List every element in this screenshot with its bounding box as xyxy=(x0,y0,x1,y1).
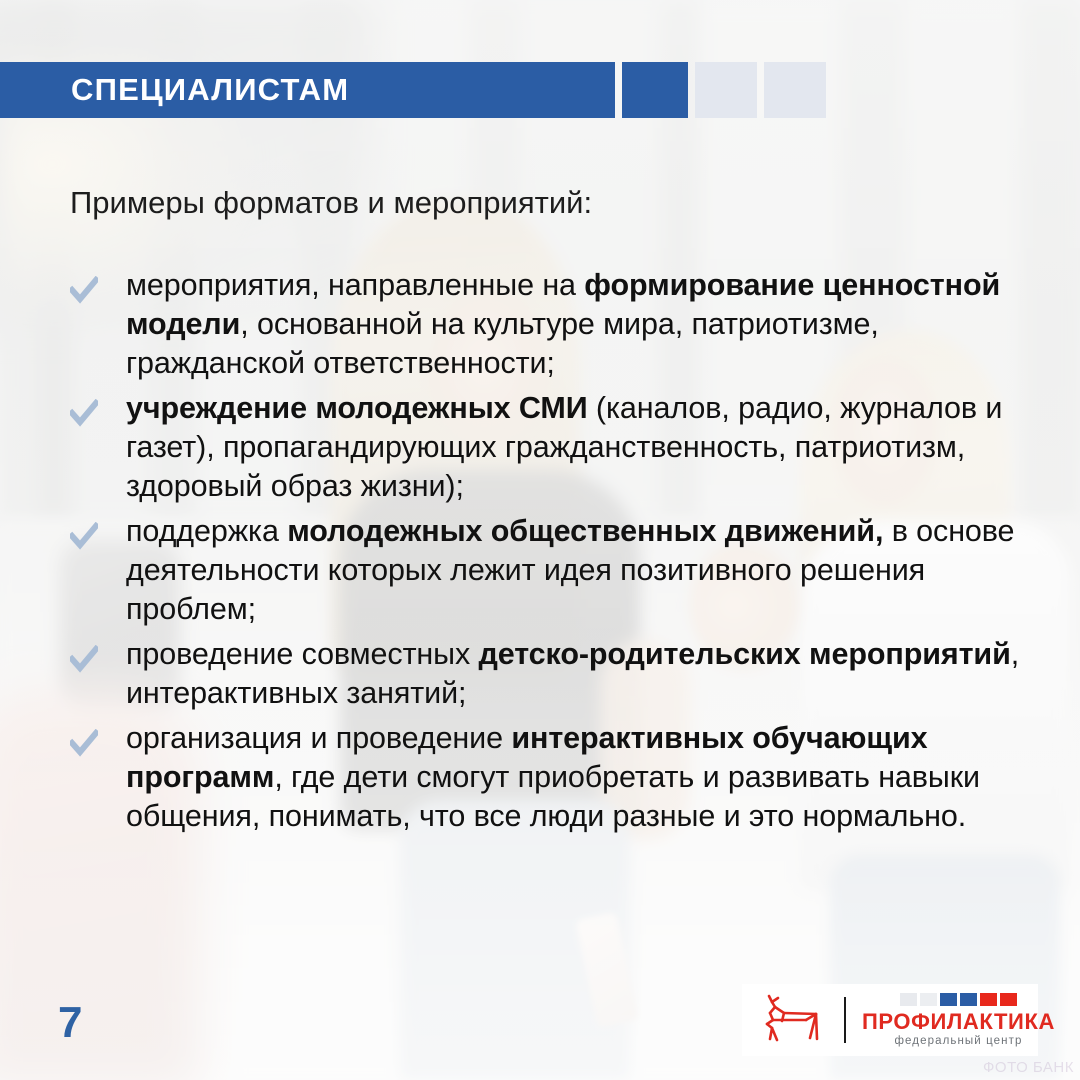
bullet-text-plain: мероприятия, направленные на xyxy=(126,268,584,302)
logo-color-square xyxy=(900,993,917,1006)
bullet-list: мероприятия, направленные на формировани… xyxy=(70,266,1020,842)
page-number: 7 xyxy=(58,998,82,1048)
bullet-text: мероприятия, направленные на формировани… xyxy=(126,266,1020,383)
bullet-item: организация и проведение интерактивных о… xyxy=(70,719,1020,836)
organization-logo: ПРОФИЛАКТИКА федеральный центр xyxy=(742,984,1038,1056)
logo-color-squares xyxy=(900,993,1017,1006)
bullet-text-emphasis: учреждение молодежных СМИ xyxy=(126,391,588,425)
bullet-text-plain: поддержка xyxy=(126,514,287,548)
logo-color-square xyxy=(1000,993,1017,1006)
logo-divider xyxy=(844,997,846,1043)
bullet-text: организация и проведение интерактивных о… xyxy=(126,719,1020,836)
bullet-text: поддержка молодежных общественных движен… xyxy=(126,512,1020,629)
logo-subtitle: федеральный центр xyxy=(894,1035,1022,1047)
check-icon xyxy=(70,522,98,552)
bullet-item: мероприятия, направленные на формировани… xyxy=(70,266,1020,383)
content-subtitle: Примеры форматов и мероприятий: xyxy=(70,185,592,221)
check-icon xyxy=(70,399,98,429)
logo-name: ПРОФИЛАКТИКА xyxy=(862,1010,1055,1033)
logo-color-square xyxy=(980,993,997,1006)
bullet-text-emphasis: детско-родительских мероприятий xyxy=(479,637,1011,671)
check-icon xyxy=(70,729,98,759)
check-icon xyxy=(70,276,98,306)
bullet-text-emphasis: молодежных общественных движений, xyxy=(287,514,883,548)
slide: СПЕЦИАЛИСТАМ Примеры форматов и мероприя… xyxy=(0,0,1080,1080)
stock-photo-watermark: ФОТО БАНК xyxy=(983,1059,1074,1076)
bullet-text-plain: проведение совместных xyxy=(126,637,479,671)
logo-color-square xyxy=(920,993,937,1006)
logo-color-square xyxy=(960,993,977,1006)
check-icon xyxy=(70,645,98,675)
slide-content: Примеры форматов и мероприятий: мероприя… xyxy=(0,0,1080,1080)
deer-icon xyxy=(760,993,832,1047)
logo-text-block: ПРОФИЛАКТИКА федеральный центр xyxy=(862,993,1063,1047)
bullet-text: учреждение молодежных СМИ (каналов, ради… xyxy=(126,389,1020,506)
bullet-text-plain: организация и проведение xyxy=(126,721,511,755)
logo-color-square xyxy=(940,993,957,1006)
bullet-item: проведение совместных детско-родительски… xyxy=(70,635,1020,713)
bullet-item: учреждение молодежных СМИ (каналов, ради… xyxy=(70,389,1020,506)
bullet-item: поддержка молодежных общественных движен… xyxy=(70,512,1020,629)
bullet-text: проведение совместных детско-родительски… xyxy=(126,635,1020,713)
